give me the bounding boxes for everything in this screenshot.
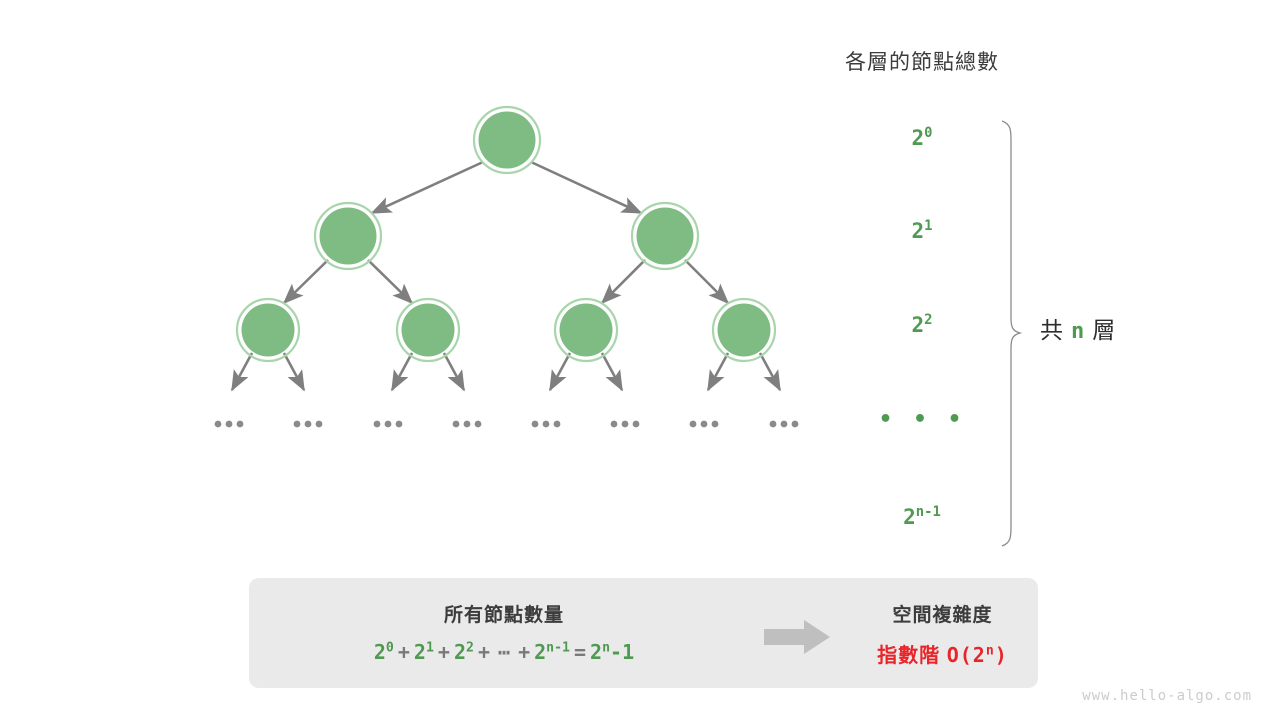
tree-node-level3-3 [555,299,617,361]
ellipsis-group [770,421,799,428]
total-levels-suffix: 層 [1092,317,1117,343]
formula-plus: + [434,640,454,664]
formula-plus: + [474,640,494,664]
tree-edges-level1 [372,162,641,213]
complexity-label: 指數階 [877,645,940,667]
total-levels-prefix: 共 [1040,317,1065,343]
formula-exponent: n-1 [546,640,570,655]
ellipsis-group [294,421,323,428]
ellipsis-group [215,421,244,428]
total-levels-label: 共n層 [1040,311,1117,345]
tree-nodes [237,107,775,361]
flow-arrow-icon [764,620,832,654]
level-count-last: 2n-1 [862,505,982,529]
space-complexity-section: 空間複雜度 指數階 O(2n) [847,578,1038,688]
level-count-ellipsis: • • • [862,407,982,432]
level-exponent: 2 [924,312,932,328]
tree-ellipsis-row [215,421,799,428]
ellipsis-group [690,421,719,428]
watermark: www.hello-algo.com [1082,688,1252,704]
node-count-title: 所有節點數量 [249,600,759,627]
formula-exponent: n [602,640,610,655]
formula-equals: = [570,640,590,664]
summary-panel: 所有節點數量 20+21+22+⋯+2n-1=2n-1 空間複雜度 指數階 O(… [249,578,1038,688]
level-exponent: 1 [924,218,932,234]
level-count-1: 21 [862,219,982,243]
formula-term-0: 20 [374,640,394,664]
tree-edges-level2 [284,260,728,303]
total-levels-n: n [1065,319,1092,344]
space-complexity-value: 指數階 O(2n) [847,639,1038,668]
tree-node-root [474,107,540,173]
tree-node-level3-2 [397,299,459,361]
formula-dots: ⋯ [494,640,514,664]
complexity-notation: O(2n) [947,643,1008,667]
tree-node-level3-4 [713,299,775,361]
formula-plus: + [514,640,534,664]
formula-exponent: 2 [466,640,474,655]
tree-node-level2-left [315,203,381,269]
formula-exponent: 1 [426,640,434,655]
ellipsis-group [611,421,640,428]
formula-result: 2n-1 [590,640,634,664]
diagram-canvas: 各層的節點總數 20 21 22 • • • 2n-1 共n層 所有節點數量 2… [0,0,1280,720]
ellipsis-group [453,421,482,428]
level-count-2: 22 [862,313,982,337]
formula-exponent: 0 [386,640,394,655]
level-exponent: 0 [924,125,932,141]
levels-column-title: 各層的節點總數 [762,46,1082,76]
formula-term-last: 2n-1 [534,640,570,664]
tree-node-level2-right [632,203,698,269]
ellipsis-group [532,421,561,428]
space-complexity-title: 空間複雜度 [847,600,1038,627]
formula-term-2: 22 [454,640,474,664]
level-count-0: 20 [862,126,982,150]
node-count-section: 所有節點數量 20+21+22+⋯+2n-1=2n-1 [249,578,759,688]
level-span-brace [1002,121,1020,546]
formula-plus: + [394,640,414,664]
ellipsis-group [374,421,403,428]
node-count-formula: 20+21+22+⋯+2n-1=2n-1 [249,640,759,664]
tree-node-level3-1 [237,299,299,361]
formula-term-1: 21 [414,640,434,664]
complexity-exponent: n [986,643,995,658]
tree-edges-level3 [232,353,780,390]
level-exponent: n-1 [916,504,941,520]
